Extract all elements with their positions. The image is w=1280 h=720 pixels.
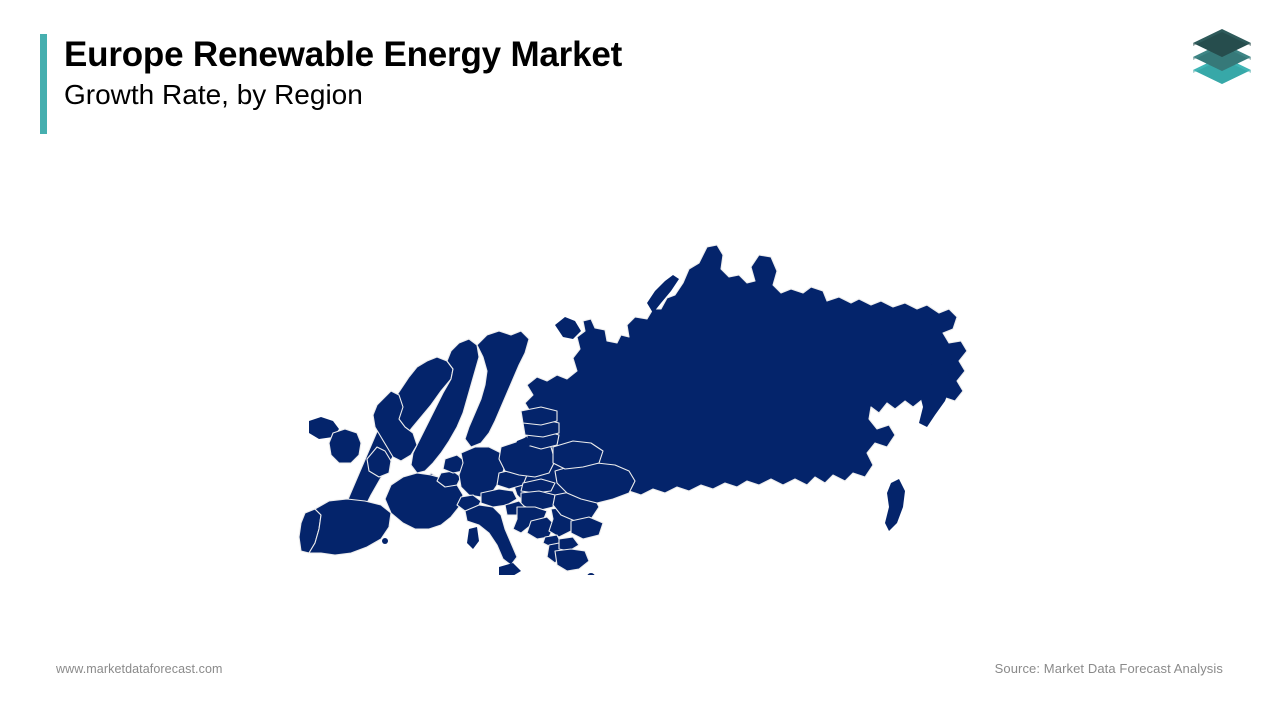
page-title: Europe Renewable Energy Market xyxy=(64,34,622,76)
europe-russia-region-map[interactable] xyxy=(255,185,995,575)
region-sardinia[interactable] xyxy=(467,527,479,549)
header: Europe Renewable Energy Market Growth Ra… xyxy=(40,34,622,134)
region-sakhalin[interactable] xyxy=(885,479,905,531)
region-estonia[interactable] xyxy=(521,407,557,425)
page-subtitle: Growth Rate, by Region xyxy=(64,77,622,113)
region-ireland[interactable] xyxy=(329,429,361,463)
region-bulgaria[interactable] xyxy=(571,517,603,539)
region-spain[interactable] xyxy=(309,499,391,555)
region-balearic-islands[interactable] xyxy=(382,538,388,544)
stacked-diamonds-logo xyxy=(1186,22,1258,92)
region-sicily[interactable] xyxy=(499,563,521,575)
region-kola-peninsula[interactable] xyxy=(555,317,581,339)
region-greece[interactable] xyxy=(555,549,589,571)
footer-source: Source: Market Data Forecast Analysis xyxy=(995,661,1223,676)
slide-canvas: Europe Renewable Energy Market Growth Ra… xyxy=(0,0,1280,720)
region-crete[interactable] xyxy=(587,573,595,575)
map-svg[interactable] xyxy=(255,185,995,575)
footer-website[interactable]: www.marketdataforecast.com xyxy=(56,662,223,676)
title-accent-bar xyxy=(40,34,47,134)
title-block: Europe Renewable Energy Market Growth Ra… xyxy=(64,34,622,134)
top-diamond-icon xyxy=(1193,29,1251,57)
